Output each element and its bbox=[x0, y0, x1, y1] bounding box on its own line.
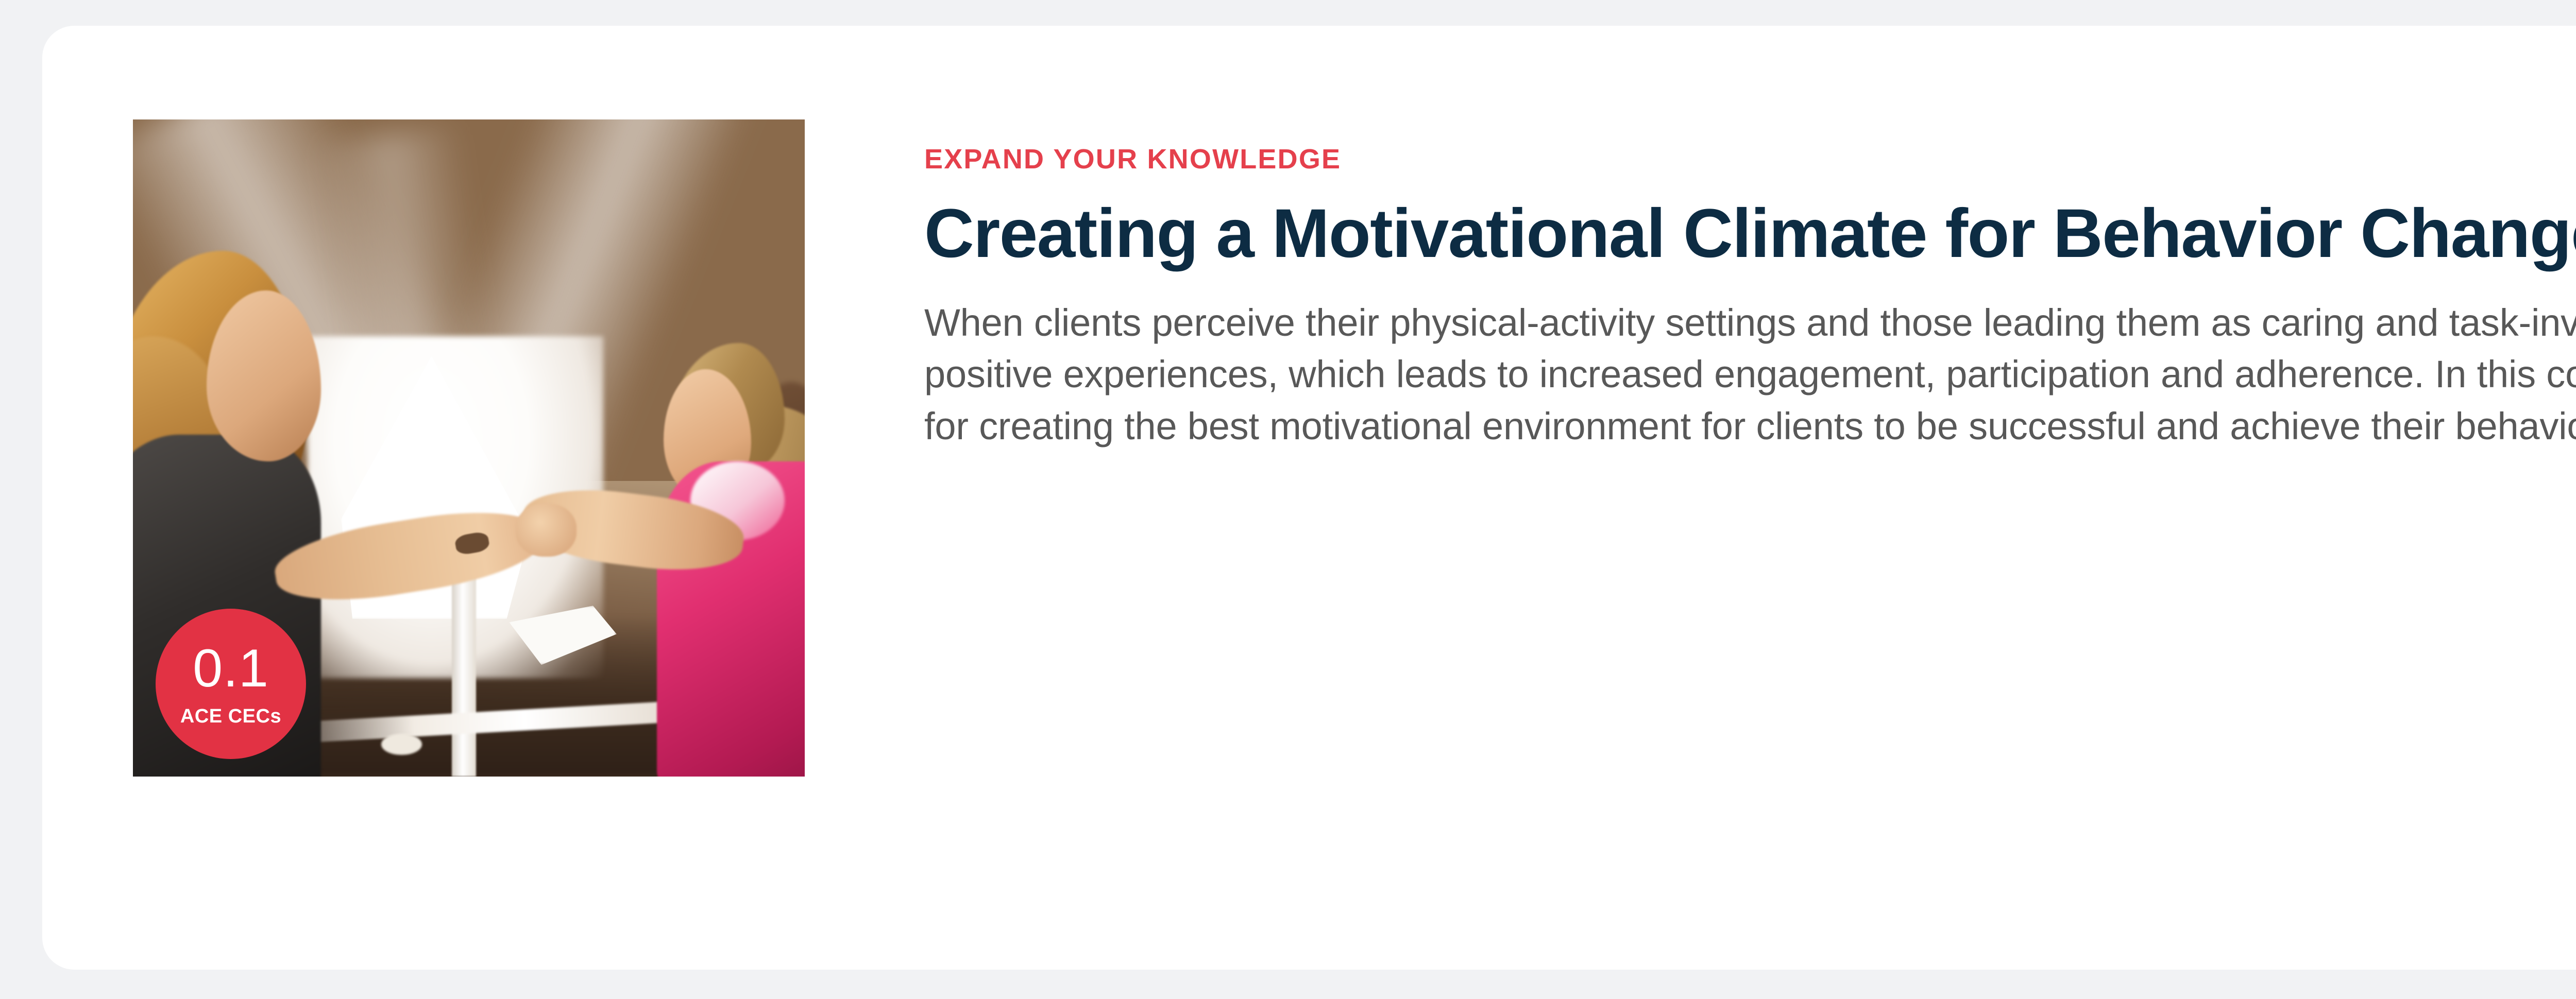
course-thumbnail-image[interactable]: 0.1 ACE CECs bbox=[133, 119, 805, 777]
exercise-machine-knob bbox=[381, 734, 421, 755]
course-eyebrow-label: EXPAND YOUR KNOWLEDGE bbox=[924, 145, 2576, 173]
cec-value: 0.1 bbox=[193, 642, 269, 695]
course-card[interactable]: 0.1 ACE CECs EXPAND YOUR KNOWLEDGE Creat… bbox=[42, 26, 2576, 970]
course-title[interactable]: Creating a Motivational Climate for Beha… bbox=[924, 195, 2576, 273]
fist-bump bbox=[516, 504, 576, 556]
course-text-column: EXPAND YOUR KNOWLEDGE Creating a Motivat… bbox=[924, 145, 2576, 453]
cec-label: ACE CECs bbox=[180, 707, 281, 726]
exercise-machine-post bbox=[452, 566, 476, 777]
course-description: When clients perceive their physical-act… bbox=[924, 297, 2576, 453]
ace-cec-badge: 0.1 ACE CECs bbox=[156, 609, 306, 759]
